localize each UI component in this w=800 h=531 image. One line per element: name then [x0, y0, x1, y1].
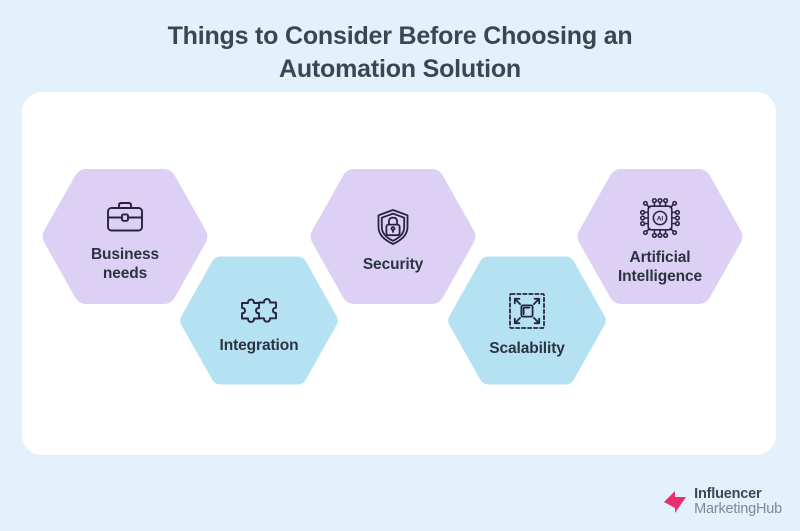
hexagon-label-integration: Integration — [220, 337, 299, 356]
hexagon-label-business-needs: Business needs — [91, 246, 159, 284]
hexagon-label-scalability: Scalability — [489, 340, 565, 359]
hexagon-label-security: Security — [363, 256, 423, 275]
svg-text:AI: AI — [657, 215, 664, 222]
hexagon-business-needs[interactable]: Business needs — [39, 165, 211, 315]
shield-lock-icon — [374, 207, 412, 247]
expand-arrows-icon — [507, 291, 547, 331]
briefcase-icon — [104, 199, 146, 237]
ai-chip-icon: AI — [638, 196, 682, 240]
infographic-canvas: Things to Consider Before Choosing an Au… — [0, 0, 800, 531]
hexagon-artificial-intelligence[interactable]: AI — [574, 165, 746, 315]
puzzle-pieces-icon — [237, 294, 281, 328]
arrow-mark-icon — [662, 489, 688, 515]
brand-logo-text: Influencer MarketingHub — [694, 487, 782, 517]
brand-logo-line-1: Influencer — [694, 487, 782, 502]
hexagon-label-artificial-intelligence: Artificial Intelligence — [618, 249, 702, 287]
hexagon-security[interactable]: Security — [307, 165, 479, 315]
brand-logo-line-2: MarketingHub — [694, 502, 782, 517]
brand-logo[interactable]: Influencer MarketingHub — [662, 487, 782, 517]
hexagon-cluster: Business needs Integration — [0, 0, 800, 531]
